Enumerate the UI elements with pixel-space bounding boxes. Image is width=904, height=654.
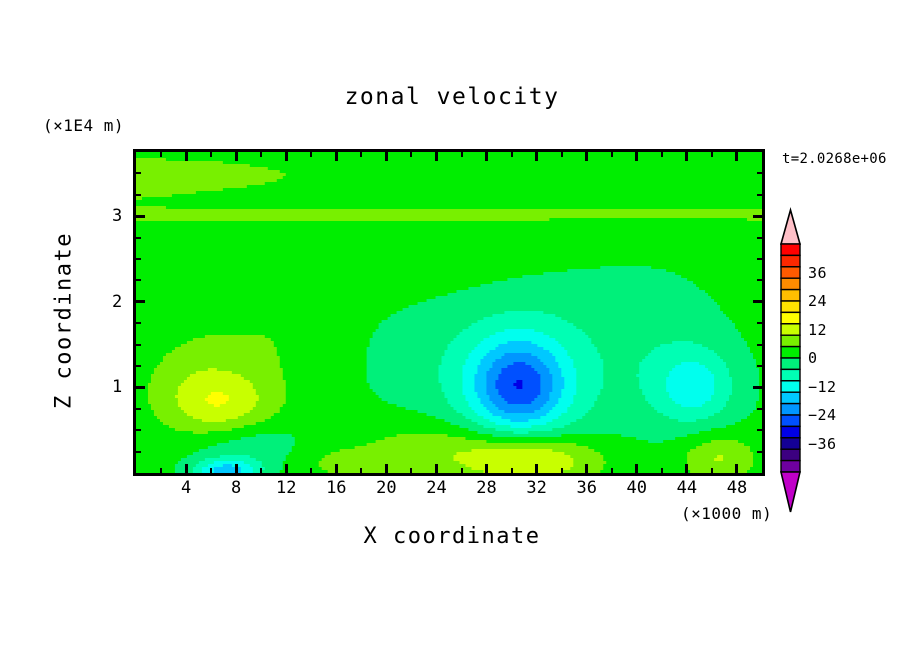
x-minor-tick [360,152,362,157]
x-minor-tick [310,468,312,473]
y-minor-tick [136,258,141,260]
y-tick-label-2: 3 [112,206,122,226]
x-minor-tick [160,468,162,473]
x-tick-mark-6 [485,464,488,473]
page-title: zonal velocity [0,84,904,110]
y-minor-tick [136,429,141,431]
x-tick-label-5: 24 [426,478,446,498]
x-tick-label-4: 20 [376,478,396,498]
x-tick-label-1: 8 [231,478,241,498]
x-minor-tick [511,152,513,157]
figure-canvas: zonal velocity (×1E4 m) (×1000 m) t=2.02… [0,0,904,654]
colorbar-label-1: 24 [808,292,827,310]
y-minor-tick [757,451,762,453]
y-tick-mark-1 [136,300,145,303]
y-axis-unit-label: (×1E4 m) [43,116,124,135]
x-minor-tick [661,152,663,157]
x-tick-mark-top-9 [635,152,638,161]
x-minor-tick [711,152,713,157]
colorbar-label-5: −24 [808,406,837,424]
y-minor-tick [757,344,762,346]
x-tick-label-6: 28 [476,478,496,498]
x-minor-tick [410,468,412,473]
y-minor-tick [136,322,141,324]
x-minor-tick [461,468,463,473]
y-minor-tick [136,344,141,346]
colorbar: 3624120−12−24−36 [778,196,898,526]
y-minor-tick [757,408,762,410]
y-minor-tick [136,237,141,239]
x-minor-tick [661,468,663,473]
x-tick-label-9: 40 [627,478,647,498]
contour-field [136,152,762,473]
y-axis-title: Z coordinate [52,221,77,421]
x-axis-title: X coordinate [0,524,904,549]
y-minor-tick [136,279,141,281]
x-minor-tick [711,468,713,473]
x-tick-mark-2 [285,464,288,473]
x-tick-mark-8 [585,464,588,473]
x-tick-label-11: 48 [727,478,747,498]
y-minor-tick [136,172,141,174]
colorbar-label-2: 12 [808,321,827,339]
x-tick-mark-5 [435,464,438,473]
x-minor-tick [461,152,463,157]
y-tick-mark-0 [136,386,145,389]
x-tick-mark-10 [685,464,688,473]
y-minor-tick [757,365,762,367]
x-tick-mark-4 [385,464,388,473]
y-minor-tick [757,258,762,260]
x-minor-tick [160,152,162,157]
x-minor-tick [360,468,362,473]
x-tick-mark-9 [635,464,638,473]
y-tick-mark-0 [753,386,762,389]
y-tick-label-0: 1 [112,377,122,397]
y-minor-tick [757,194,762,196]
x-minor-tick [511,468,513,473]
x-minor-tick [260,152,262,157]
x-minor-tick [611,152,613,157]
x-minor-tick [561,152,563,157]
x-tick-label-3: 16 [326,478,346,498]
x-tick-label-7: 32 [526,478,546,498]
y-minor-tick [757,172,762,174]
x-minor-tick [611,468,613,473]
x-minor-tick [260,468,262,473]
y-minor-tick [136,194,141,196]
x-tick-mark-top-4 [385,152,388,161]
x-minor-tick [210,468,212,473]
x-minor-tick [561,468,563,473]
x-tick-mark-11 [735,464,738,473]
y-minor-tick [136,408,141,410]
x-tick-mark-top-7 [535,152,538,161]
colorbar-gradient [778,196,898,526]
y-minor-tick [136,451,141,453]
x-tick-label-0: 4 [181,478,191,498]
x-minor-tick [410,152,412,157]
x-minor-tick [310,152,312,157]
x-axis-unit-label: (×1000 m) [681,504,772,523]
x-tick-mark-7 [535,464,538,473]
x-tick-mark-0 [185,464,188,473]
x-tick-label-10: 44 [677,478,697,498]
y-tick-mark-2 [136,215,145,218]
y-tick-label-1: 2 [112,292,122,312]
y-minor-tick [757,429,762,431]
x-tick-mark-top-6 [485,152,488,161]
x-tick-mark-top-3 [335,152,338,161]
colorbar-label-3: 0 [808,349,818,367]
y-minor-tick [757,322,762,324]
x-tick-mark-top-2 [285,152,288,161]
colorbar-label-4: −12 [808,378,837,396]
y-tick-mark-2 [753,215,762,218]
y-tick-mark-1 [753,300,762,303]
time-annotation: t=2.0268e+06 [782,151,887,167]
x-tick-label-8: 36 [576,478,596,498]
x-tick-mark-top-1 [235,152,238,161]
contour-plot-panel [136,152,762,473]
x-minor-tick [210,152,212,157]
colorbar-label-0: 36 [808,264,827,282]
y-minor-tick [136,365,141,367]
x-tick-mark-top-11 [735,152,738,161]
x-tick-mark-top-5 [435,152,438,161]
x-tick-mark-top-8 [585,152,588,161]
colorbar-label-6: −36 [808,435,837,453]
y-minor-tick [757,237,762,239]
x-tick-label-2: 12 [276,478,296,498]
x-tick-mark-3 [335,464,338,473]
x-tick-mark-1 [235,464,238,473]
y-minor-tick [757,279,762,281]
x-tick-mark-top-0 [185,152,188,161]
x-tick-mark-top-10 [685,152,688,161]
